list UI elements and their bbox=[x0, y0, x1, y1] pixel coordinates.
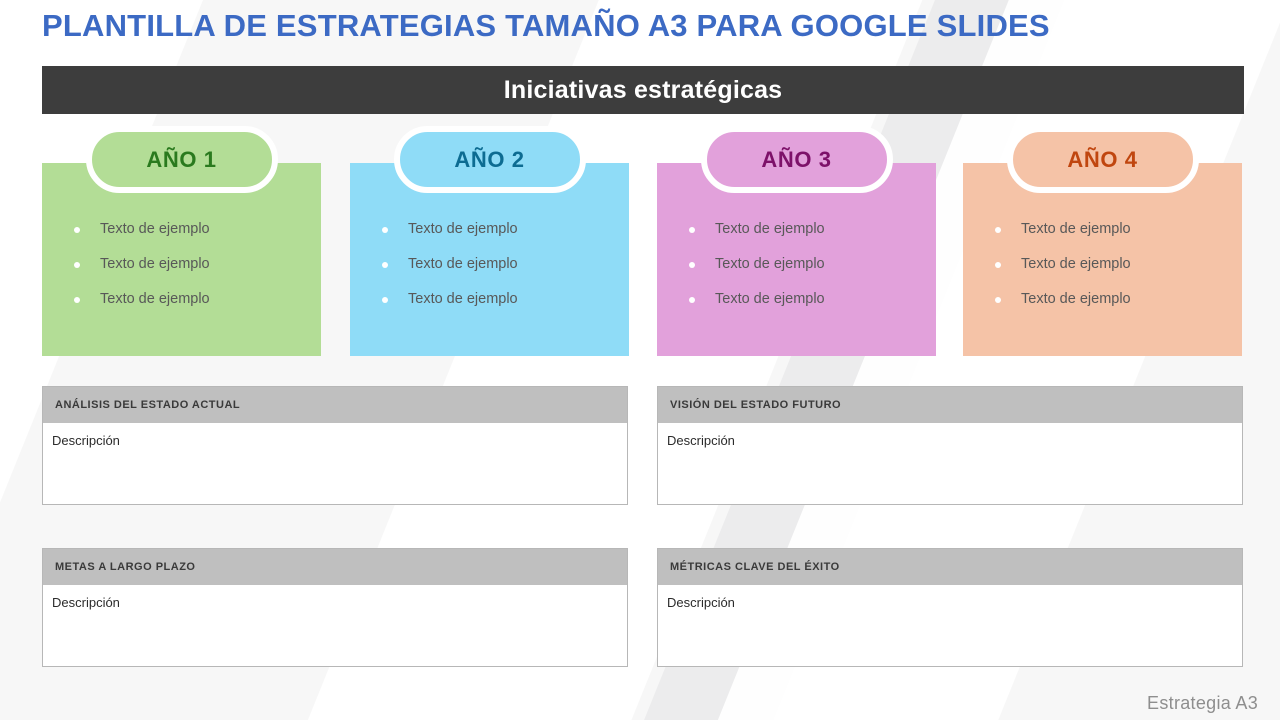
bullet-dot-icon bbox=[382, 262, 388, 268]
bullet-dot-icon bbox=[689, 262, 695, 268]
bullet-text: Texto de ejemplo bbox=[100, 291, 210, 307]
list-item: Texto de ejemplo bbox=[370, 291, 629, 307]
year-bullet-list-3: Texto de ejemplo Texto de ejemplo Texto … bbox=[657, 207, 936, 307]
year-badge-3[interactable]: AÑO 3 bbox=[701, 126, 893, 193]
bullet-dot-icon bbox=[689, 227, 695, 233]
deco-stripe-1 bbox=[0, 0, 16, 720]
bullet-text: Texto de ejemplo bbox=[1021, 221, 1131, 237]
slide-footer-label: Estrategia A3 bbox=[1147, 693, 1258, 714]
panel-heading-text: VISIÓN DEL ESTADO FUTURO bbox=[670, 399, 841, 411]
year-bullet-list-1: Texto de ejemplo Texto de ejemplo Texto … bbox=[42, 207, 321, 307]
year-card-2[interactable]: AÑO 2 Texto de ejemplo Texto de ejemplo … bbox=[350, 163, 629, 356]
year-bullet-list-4: Texto de ejemplo Texto de ejemplo Texto … bbox=[963, 207, 1242, 307]
panel-header: ANÁLISIS DEL ESTADO ACTUAL bbox=[43, 387, 627, 423]
panel-body[interactable]: Descripción bbox=[43, 585, 627, 666]
bullet-text: Texto de ejemplo bbox=[715, 291, 825, 307]
page-title: PLANTILLA DE ESTRATEGIAS TAMAÑO A3 PARA … bbox=[42, 8, 1050, 44]
panel-header: MÉTRICAS CLAVE DEL ÉXITO bbox=[658, 549, 1242, 585]
list-item: Texto de ejemplo bbox=[370, 221, 629, 237]
year-badge-label-2: AÑO 2 bbox=[454, 147, 524, 173]
year-badge-label-3: AÑO 3 bbox=[761, 147, 831, 173]
section-banner-label: Iniciativas estratégicas bbox=[504, 76, 783, 105]
year-badge-2[interactable]: AÑO 2 bbox=[394, 126, 586, 193]
year-bullet-list-2: Texto de ejemplo Texto de ejemplo Texto … bbox=[350, 207, 629, 307]
panel-header: VISIÓN DEL ESTADO FUTURO bbox=[658, 387, 1242, 423]
bullet-text: Texto de ejemplo bbox=[1021, 256, 1131, 272]
panel-body[interactable]: Descripción bbox=[658, 585, 1242, 666]
bullet-dot-icon bbox=[995, 227, 1001, 233]
list-item: Texto de ejemplo bbox=[983, 256, 1242, 272]
panel-current-state-analysis[interactable]: ANÁLISIS DEL ESTADO ACTUAL Descripción bbox=[42, 386, 628, 505]
bullet-dot-icon bbox=[382, 227, 388, 233]
year-badge-4[interactable]: AÑO 4 bbox=[1007, 126, 1199, 193]
bullet-text: Texto de ejemplo bbox=[100, 221, 210, 237]
year-card-3[interactable]: AÑO 3 Texto de ejemplo Texto de ejemplo … bbox=[657, 163, 936, 356]
list-item: Texto de ejemplo bbox=[983, 221, 1242, 237]
panel-body-text: Descripción bbox=[52, 433, 120, 448]
bullet-text: Texto de ejemplo bbox=[715, 256, 825, 272]
year-card-4[interactable]: AÑO 4 Texto de ejemplo Texto de ejemplo … bbox=[963, 163, 1242, 356]
year-card-1[interactable]: AÑO 1 Texto de ejemplo Texto de ejemplo … bbox=[42, 163, 321, 356]
bullet-text: Texto de ejemplo bbox=[408, 291, 518, 307]
panel-body-text: Descripción bbox=[667, 595, 735, 610]
list-item: Texto de ejemplo bbox=[677, 221, 936, 237]
year-badge-label-1: AÑO 1 bbox=[146, 147, 216, 173]
bullet-dot-icon bbox=[995, 262, 1001, 268]
panel-long-term-goals[interactable]: METAS A LARGO PLAZO Descripción bbox=[42, 548, 628, 667]
year-badge-1[interactable]: AÑO 1 bbox=[86, 126, 278, 193]
section-banner: Iniciativas estratégicas bbox=[42, 66, 1244, 114]
bullet-dot-icon bbox=[382, 297, 388, 303]
list-item: Texto de ejemplo bbox=[62, 291, 321, 307]
panel-future-state-vision[interactable]: VISIÓN DEL ESTADO FUTURO Descripción bbox=[657, 386, 1243, 505]
year-badge-label-4: AÑO 4 bbox=[1067, 147, 1137, 173]
panel-body-text: Descripción bbox=[52, 595, 120, 610]
panel-heading-text: MÉTRICAS CLAVE DEL ÉXITO bbox=[670, 561, 840, 573]
panel-heading-text: METAS A LARGO PLAZO bbox=[55, 561, 195, 573]
bullet-text: Texto de ejemplo bbox=[1021, 291, 1131, 307]
list-item: Texto de ejemplo bbox=[62, 256, 321, 272]
bullet-dot-icon bbox=[689, 297, 695, 303]
list-item: Texto de ejemplo bbox=[62, 221, 321, 237]
bullet-text: Texto de ejemplo bbox=[100, 256, 210, 272]
panel-heading-text: ANÁLISIS DEL ESTADO ACTUAL bbox=[55, 399, 240, 411]
list-item: Texto de ejemplo bbox=[677, 256, 936, 272]
list-item: Texto de ejemplo bbox=[677, 291, 936, 307]
panel-body-text: Descripción bbox=[667, 433, 735, 448]
year-cards-row: AÑO 1 Texto de ejemplo Texto de ejemplo … bbox=[42, 126, 1244, 356]
bullet-dot-icon bbox=[74, 262, 80, 268]
panel-body[interactable]: Descripción bbox=[43, 423, 627, 504]
bullet-text: Texto de ejemplo bbox=[408, 256, 518, 272]
bullet-dot-icon bbox=[74, 227, 80, 233]
bullet-text: Texto de ejemplo bbox=[715, 221, 825, 237]
bullet-dot-icon bbox=[74, 297, 80, 303]
list-item: Texto de ejemplo bbox=[983, 291, 1242, 307]
panel-body[interactable]: Descripción bbox=[658, 423, 1242, 504]
bullet-text: Texto de ejemplo bbox=[408, 221, 518, 237]
slide-canvas: PLANTILLA DE ESTRATEGIAS TAMAÑO A3 PARA … bbox=[0, 0, 1280, 720]
bullet-dot-icon bbox=[995, 297, 1001, 303]
deco-stripe-2 bbox=[0, 0, 25, 720]
panel-header: METAS A LARGO PLAZO bbox=[43, 549, 627, 585]
list-item: Texto de ejemplo bbox=[370, 256, 629, 272]
panel-key-success-metrics[interactable]: MÉTRICAS CLAVE DEL ÉXITO Descripción bbox=[657, 548, 1243, 667]
